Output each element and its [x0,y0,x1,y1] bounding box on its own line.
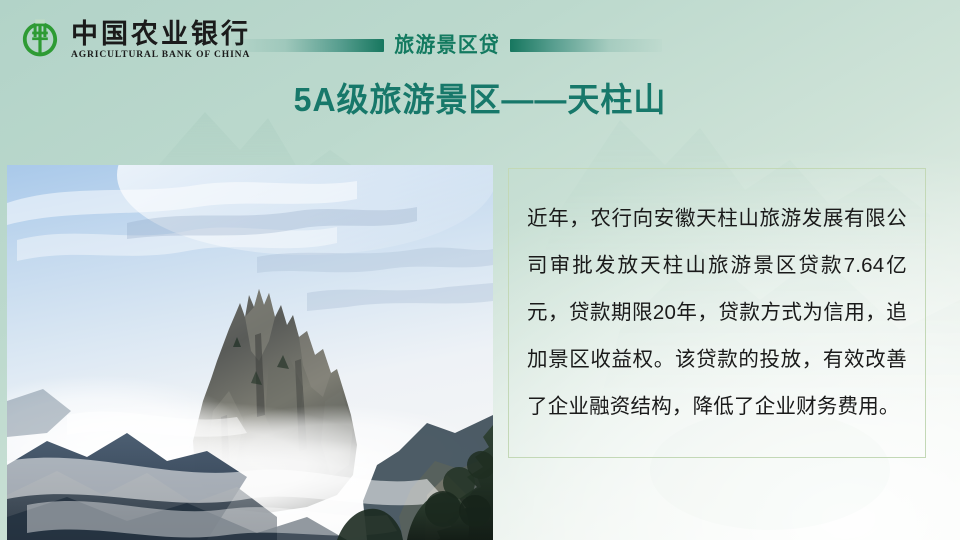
section-banner: 旅游景区贷 [232,28,662,62]
banner-label: 旅游景区贷 [388,35,507,56]
description-panel: 近年，农行向安徽天柱山旅游发展有限公司审批发放天柱山旅游景区贷款7.64亿元，贷… [508,168,926,458]
banner-bar-left [232,39,384,52]
banner-bar-right [510,39,662,52]
bank-logo-text: 中国农业银行 AGRICULTURAL BANK OF CHINA [71,20,251,62]
bank-logo: 中国农业银行 AGRICULTURAL BANK OF CHINA [18,19,251,63]
slide-canvas: 中国农业银行 AGRICULTURAL BANK OF CHINA 旅游景区贷 … [0,0,960,540]
bank-name-cn: 中国农业银行 [71,20,251,48]
page-title: 5A级旅游景区——天柱山 [14,82,945,118]
abc-wheat-emblem-icon [18,19,62,63]
scenic-photo [7,165,493,540]
description-text: 近年，农行向安徽天柱山旅游发展有限公司审批发放天柱山旅游景区贷款7.64亿元，贷… [527,195,907,430]
bank-name-en: AGRICULTURAL BANK OF CHINA [71,50,251,61]
